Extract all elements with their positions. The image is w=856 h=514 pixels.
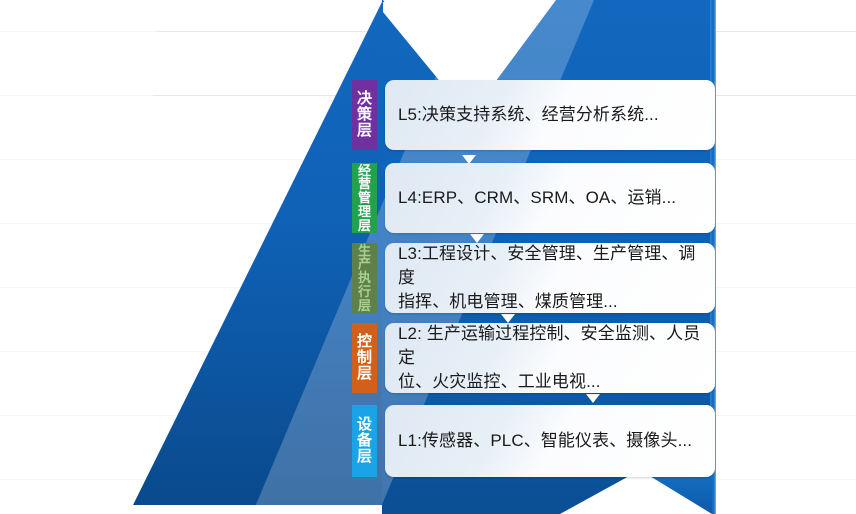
tab-char: 管 (358, 191, 371, 205)
layer-card-text-l2: L2: 生产运输过程控制、安全监测、人员定 位、火灾监控、工业电视... (398, 322, 702, 394)
card-line: L4:ERP、CRM、SRM、OA、运销... (398, 186, 676, 210)
card-line: L3:工程设计、安全管理、生产管理、调度 (398, 242, 702, 290)
tab-char: 理 (358, 205, 371, 219)
tab-char: 层 (357, 449, 372, 465)
layer-row-l4[interactable]: 经 营 管 理 层 L4:ERP、CRM、SRM、OA、运销... (352, 163, 715, 233)
tab-char: 决 (357, 91, 372, 107)
layer-row-l1[interactable]: 设 备 层 L1:传感器、PLC、智能仪表、摄像头... (352, 405, 715, 477)
tab-char: 策 (357, 107, 372, 123)
card-line: 指挥、机电管理、煤质管理... (398, 290, 702, 314)
tab-char: 层 (357, 366, 372, 382)
layer-tab-l2[interactable]: 控 制 层 (352, 323, 377, 393)
layer-card-l2[interactable]: L2: 生产运输过程控制、安全监测、人员定 位、火灾监控、工业电视... (385, 323, 715, 393)
layer-tab-l1[interactable]: 设 备 层 (352, 405, 377, 477)
tab-char: 层 (358, 299, 371, 313)
layer-rows: 决 策 层 L5:决策支持系统、经营分析系统... 经 营 管 理 层 L4: (0, 0, 856, 514)
layer-row-l5[interactable]: 决 策 层 L5:决策支持系统、经营分析系统... (352, 80, 715, 150)
layer-card-text-l3: L3:工程设计、安全管理、生产管理、调度 指挥、机电管理、煤质管理... (398, 242, 702, 314)
tab-char: 制 (357, 350, 372, 366)
layer-tab-l3[interactable]: 生 产 执 行 层 (352, 243, 377, 313)
card-line: L1:传感器、PLC、智能仪表、摄像头... (398, 429, 692, 453)
layer-card-text-l4: L4:ERP、CRM、SRM、OA、运销... (398, 186, 676, 210)
layer-row-l2[interactable]: 控 制 层 L2: 生产运输过程控制、安全监测、人员定 位、火灾监控、工业电视.… (352, 323, 715, 393)
tab-char: 执 (358, 271, 371, 285)
tab-char: 营 (358, 177, 371, 191)
tab-char: 备 (357, 433, 372, 449)
layer-tab-l4[interactable]: 经 营 管 理 层 (352, 163, 377, 233)
layer-card-l5[interactable]: L5:决策支持系统、经营分析系统... (385, 80, 715, 150)
card-line: L5:决策支持系统、经营分析系统... (398, 103, 659, 127)
layer-card-text-l1: L1:传感器、PLC、智能仪表、摄像头... (398, 429, 692, 453)
layer-row-l3[interactable]: 生 产 执 行 层 L3:工程设计、安全管理、生产管理、调度 指挥、机电管理、煤… (352, 243, 715, 313)
card-line: L2: 生产运输过程控制、安全监测、人员定 (398, 322, 702, 370)
layer-tab-l5[interactable]: 决 策 层 (352, 80, 377, 150)
tab-char: 设 (357, 417, 372, 433)
tab-char: 控 (357, 334, 372, 350)
tab-char: 层 (358, 219, 371, 233)
card-line: 位、火灾监控、工业电视... (398, 370, 702, 394)
tab-char: 经 (358, 164, 371, 178)
layer-card-l4[interactable]: L4:ERP、CRM、SRM、OA、运销... (385, 163, 715, 233)
tab-char: 层 (357, 123, 372, 139)
layer-card-l3[interactable]: L3:工程设计、安全管理、生产管理、调度 指挥、机电管理、煤质管理... (385, 243, 715, 313)
tab-char: 行 (358, 285, 371, 299)
tab-char: 产 (358, 257, 371, 271)
layer-card-text-l5: L5:决策支持系统、经营分析系统... (398, 103, 659, 127)
layer-card-l1[interactable]: L1:传感器、PLC、智能仪表、摄像头... (385, 405, 715, 477)
pyramid-diagram-canvas: 决 策 层 L5:决策支持系统、经营分析系统... 经 营 管 理 层 L4: (0, 0, 856, 514)
tab-char: 生 (358, 244, 371, 258)
